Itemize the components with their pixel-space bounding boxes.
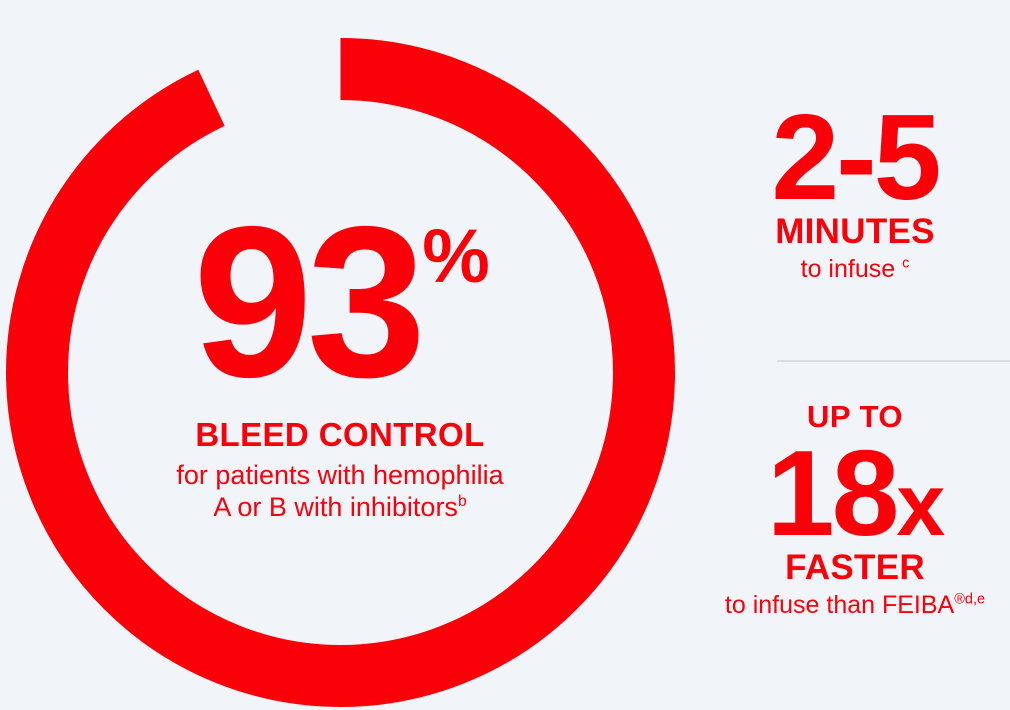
footnote-marker-de: d,e: [965, 591, 985, 607]
side-stat-minutes: 2-5 MINUTES to infuse c: [700, 100, 1010, 283]
side-stat-minutes-sub: to infuse c: [700, 255, 1010, 284]
stat-unit-percent: %: [422, 214, 489, 299]
side-stats-divider: [777, 360, 1010, 362]
side-stat-faster-sub: to infuse than FEIBA®d,e: [700, 591, 1010, 620]
side-stat-faster-label: FASTER: [700, 550, 1010, 587]
side-stat-faster-multiplier: x: [896, 455, 943, 554]
side-stat-faster-value: 18x: [700, 436, 1010, 552]
side-stat-faster-sub-text: to infuse than FEIBA: [725, 591, 954, 619]
registered-trademark-mark: ®: [954, 591, 965, 607]
donut-center-label-group: 93% BLEED CONTROL for patients with hemo…: [40, 205, 640, 524]
side-stat-minutes-value: 2-5: [700, 100, 1010, 216]
footnote-marker-c: c: [902, 255, 909, 271]
stat-sub-line-2: A or B with inhibitorsb: [40, 492, 640, 524]
side-stat-faster-number: 18: [767, 425, 897, 561]
stat-value: 93: [193, 181, 420, 422]
stat-headline: BLEED CONTROL: [40, 417, 640, 453]
stat-sub-line-1: for patients with hemophilia: [40, 460, 640, 492]
side-stats-panel: 2-5 MINUTES to infuse c UP TO 18x FASTER…: [700, 0, 1010, 710]
side-stat-minutes-sub-text: to infuse: [801, 255, 896, 283]
footnote-marker-b: b: [458, 493, 467, 510]
side-stat-faster: UP TO 18x FASTER to infuse than FEIBA®d,…: [700, 400, 1010, 619]
side-stat-minutes-label: MINUTES: [700, 214, 1010, 251]
stat-number-row: 93%: [40, 205, 640, 399]
stat-sub-line-2-text: A or B with inhibitors: [213, 492, 458, 522]
infographic-root: 93% BLEED CONTROL for patients with hemo…: [0, 0, 1010, 710]
donut-chart-panel: 93% BLEED CONTROL for patients with hemo…: [0, 0, 700, 710]
